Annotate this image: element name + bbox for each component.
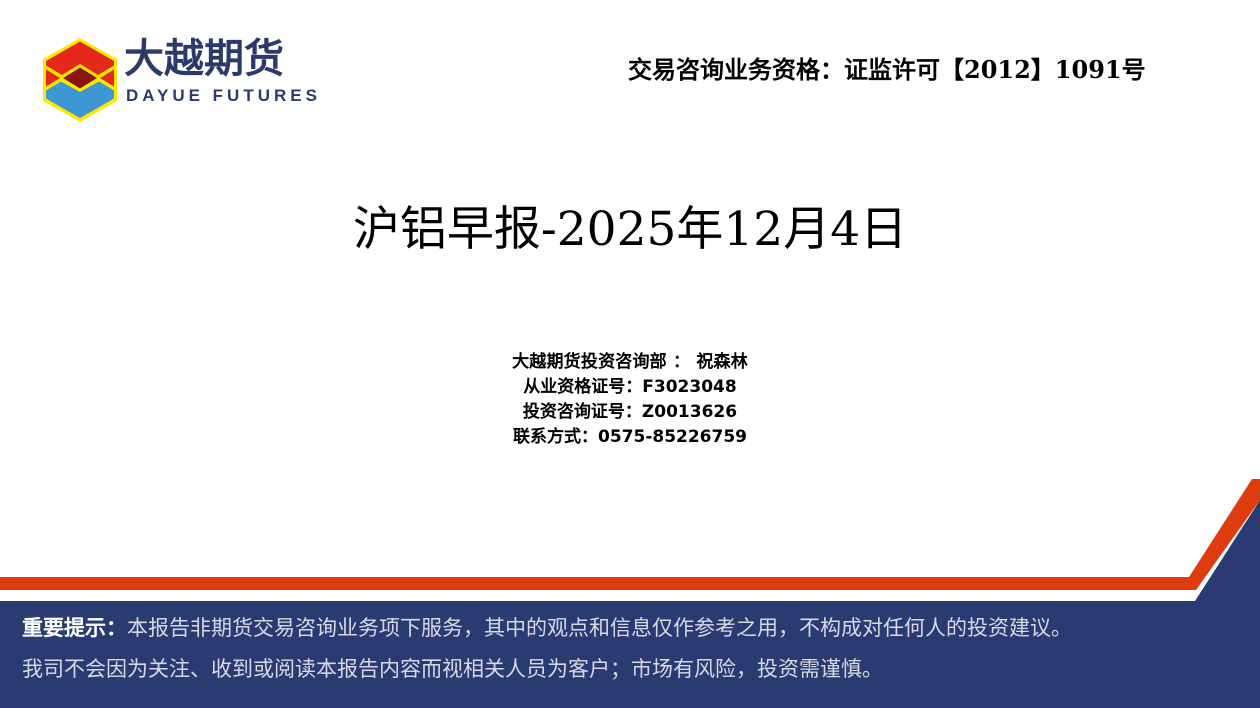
logo-chinese-name: 大越期货 bbox=[124, 35, 284, 83]
footer-disclaimer: 重要提示：本报告非期货交易咨询业务项下服务，其中的观点和信息仅作参考之用，不构成… bbox=[0, 612, 1260, 702]
page-title: 沪铝早报-2025年12月4日 bbox=[0, 190, 1260, 259]
logo-english-name: DAYUE FUTURES bbox=[126, 86, 321, 106]
author-contact-line: 联系方式：0575-85226759 bbox=[0, 425, 1260, 450]
company-logo: 大越期货 DAYUE FUTURES bbox=[40, 33, 340, 128]
author-info-block: 大越期货投资咨询部 ： 祝森林 从业资格证号：F3023048 投资咨询证号：Z… bbox=[0, 350, 1260, 450]
hexagon-cube-logo-icon bbox=[42, 37, 118, 123]
footer-disclaimer-line-1: 重要提示：本报告非期货交易咨询业务项下服务，其中的观点和信息仅作参考之用，不构成… bbox=[22, 612, 1072, 642]
footer-disclaimer-line-2: 我司不会因为关注、收到或阅读本报告内容而视相关人员为客户；市场有风险，投资需谨慎… bbox=[22, 653, 883, 683]
author-practice-cert-line: 从业资格证号：F3023048 bbox=[0, 375, 1260, 400]
author-department-line: 大越期货投资咨询部 ： 祝森林 bbox=[0, 350, 1260, 375]
qualification-statement: 交易咨询业务资格：证监许可【2012】1091号 bbox=[628, 50, 1146, 85]
author-consulting-cert-line: 投资咨询证号：Z0013626 bbox=[0, 400, 1260, 425]
footer-important-label: 重要提示： bbox=[22, 615, 127, 640]
logo-wordmark: 大越期货 DAYUE FUTURES bbox=[124, 33, 340, 125]
report-cover-page: 大越期货 DAYUE FUTURES 交易咨询业务资格：证监许可【2012】10… bbox=[0, 0, 1260, 708]
orange-stripe-shape bbox=[0, 479, 1260, 590]
footer-disclaimer-line-1-text: 本报告非期货交易咨询业务项下服务，其中的观点和信息仅作参考之用，不构成对任何人的… bbox=[127, 616, 1072, 640]
